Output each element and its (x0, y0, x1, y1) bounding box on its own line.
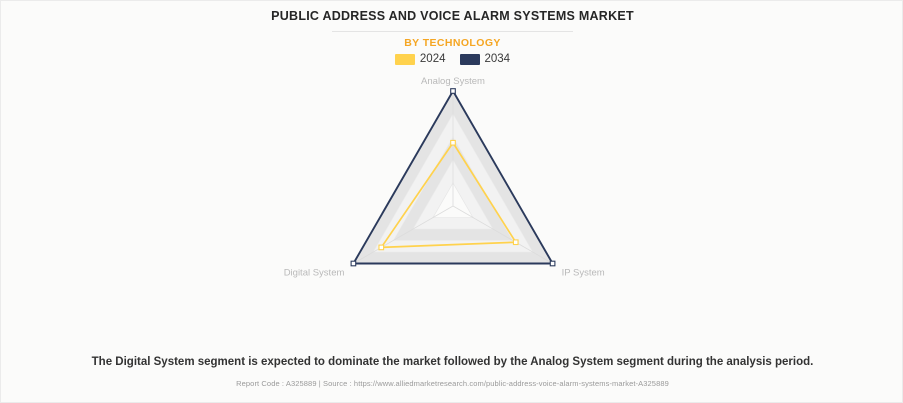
legend-swatch-2024 (395, 54, 415, 65)
chart-card: PUBLIC ADDRESS AND VOICE ALARM SYSTEMS M… (0, 0, 903, 403)
legend-label-2034: 2034 (485, 54, 511, 66)
data-point-2024-ip-system[interactable] (513, 240, 518, 245)
legend-swatch-2034 (460, 54, 480, 65)
chart-caption: The Digital System segment is expected t… (1, 356, 903, 368)
chart-legend: 2024 2034 (1, 54, 903, 66)
data-point-2024-digital-system[interactable] (379, 245, 384, 250)
radar-chart-area: Analog SystemIP SystemDigital System (1, 67, 903, 282)
page-title: PUBLIC ADDRESS AND VOICE ALARM SYSTEMS M… (1, 9, 903, 23)
legend-item-2024[interactable]: 2024 (395, 54, 446, 66)
data-point-2034-ip-system[interactable] (550, 261, 555, 266)
axis-label-analog-system: Analog System (421, 76, 485, 87)
axis-label-ip-system: IP System (562, 268, 605, 279)
radar-chart-svg: Analog SystemIP SystemDigital System (1, 67, 903, 282)
data-point-2024-analog-system[interactable] (451, 140, 456, 145)
legend-item-2034[interactable]: 2034 (460, 54, 511, 66)
data-point-2034-analog-system[interactable] (451, 89, 456, 94)
chart-subtitle: BY TECHNOLOGY (1, 37, 903, 49)
title-divider (332, 31, 573, 32)
legend-label-2024: 2024 (420, 54, 446, 66)
axis-label-digital-system: Digital System (284, 268, 345, 279)
source-line: Report Code : A325889 | Source : https:/… (1, 379, 903, 388)
data-point-2034-digital-system[interactable] (351, 261, 356, 266)
